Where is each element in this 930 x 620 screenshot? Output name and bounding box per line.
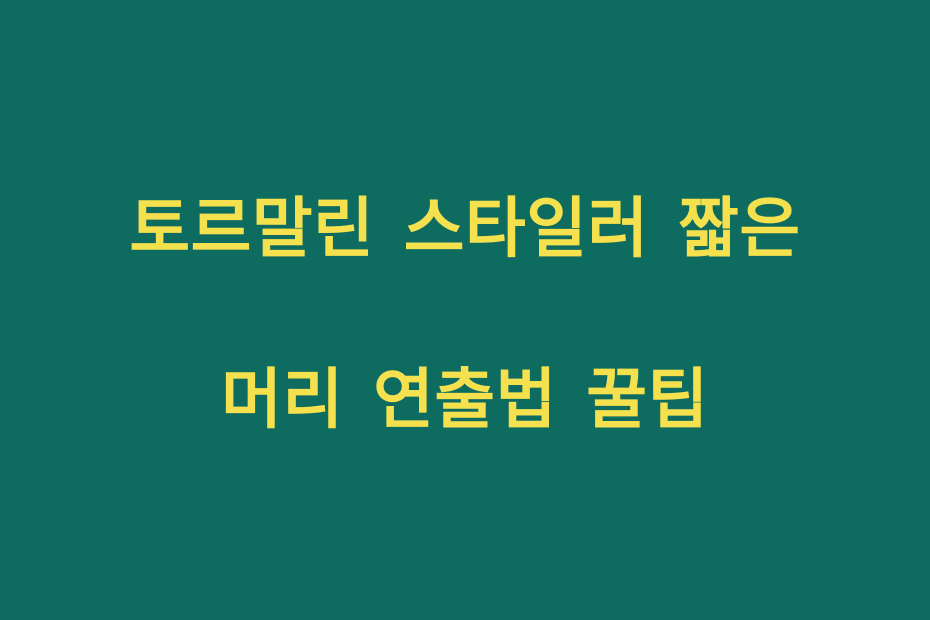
thumbnail-banner: 토르말린 스타일러 짧은 머리 연출법 꿀팁	[0, 0, 930, 620]
headline-line-1: 토르말린 스타일러 짧은	[129, 187, 800, 271]
headline-line-2: 머리 연출법 꿀팁	[129, 358, 800, 442]
page-title: 토르말린 스타일러 짧은 머리 연출법 꿀팁	[129, 103, 800, 527]
headline-block: 토르말린 스타일러 짧은 머리 연출법 꿀팁	[0, 103, 930, 527]
